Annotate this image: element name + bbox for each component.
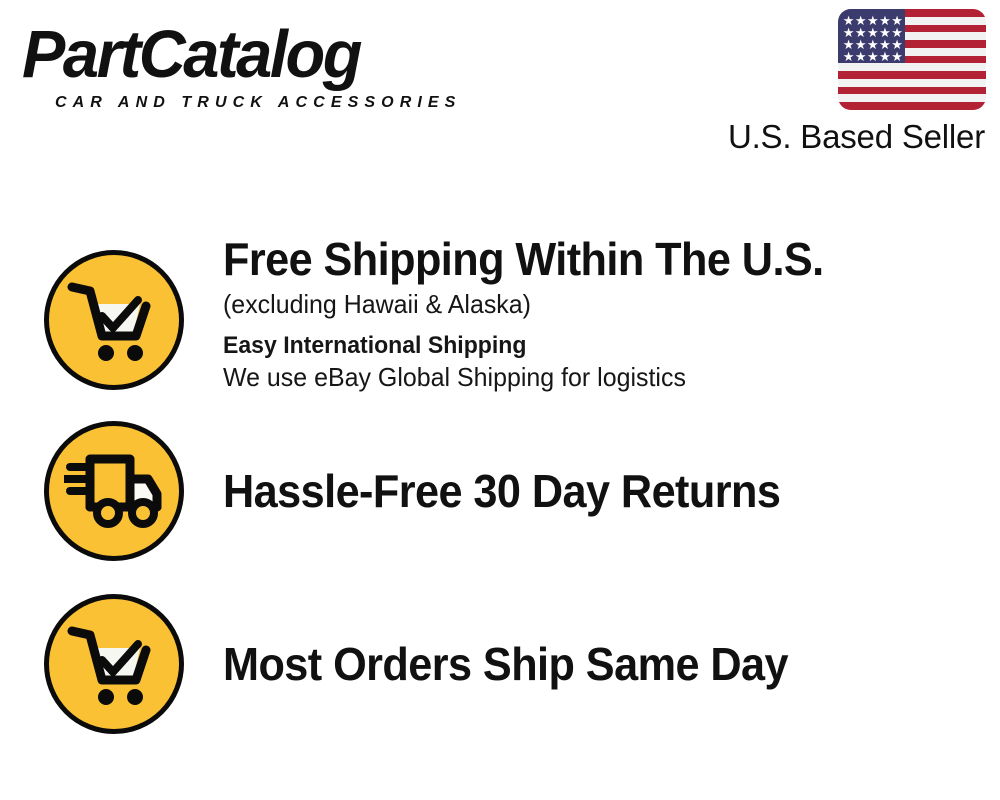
feature-sub-text: We use eBay Global Shipping for logistic…	[223, 361, 950, 393]
feature-text-block: Free Shipping Within The U.S. (excluding…	[223, 234, 980, 393]
feature-sub-heading: Easy International Shipping	[223, 330, 950, 361]
spacer	[223, 320, 980, 330]
us-flag-icon: ★ ★ ★ ★ ★ ★ ★ ★ ★ ★ ★ ★ ★ ★ ★ ★ ★ ★ ★ ★	[838, 9, 986, 110]
feature-note: (excluding Hawaii & Alaska)	[223, 288, 950, 320]
flag-stripe	[838, 63, 986, 71]
feature-title: Most Orders Ship Same Day	[223, 639, 935, 689]
feature-text-block: Most Orders Ship Same Day	[223, 639, 980, 689]
feature-title: Free Shipping Within The U.S.	[223, 234, 935, 284]
flag-stripe	[838, 71, 986, 79]
flag-stripe	[838, 87, 986, 95]
shipping-info-banner: PartCatalog CAR AND TRUCK ACCESSORIES ★ …	[0, 0, 1000, 800]
flag-stripe	[838, 79, 986, 87]
shopping-cart-check-icon	[44, 250, 184, 390]
feature-text-block: Hassle-Free 30 Day Returns	[223, 466, 980, 516]
flag-stripe	[838, 102, 986, 110]
feature-title: Hassle-Free 30 Day Returns	[223, 466, 935, 516]
shopping-cart-check-icon	[44, 594, 184, 734]
brand-logo: PartCatalog CAR AND TRUCK ACCESSORIES	[22, 18, 492, 118]
flag-canton: ★ ★ ★ ★ ★ ★ ★ ★ ★ ★ ★ ★ ★ ★ ★ ★ ★ ★ ★ ★	[838, 9, 905, 63]
delivery-truck-icon	[44, 421, 184, 561]
brand-tagline: CAR AND TRUCK ACCESSORIES	[55, 94, 461, 112]
us-based-seller-label: U.S. Based Seller	[600, 118, 985, 156]
brand-wordmark: PartCatalog	[22, 18, 478, 92]
flag-stripe	[838, 94, 986, 102]
